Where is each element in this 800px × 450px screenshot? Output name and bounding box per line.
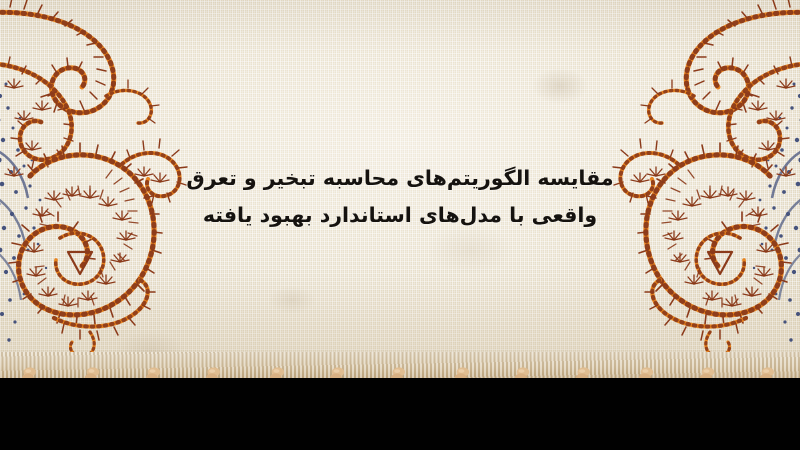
- textile-title-slide: مقایسه الگوریتم‌های محاسبه تبخیر و تعرق …: [0, 0, 800, 450]
- title-line-2: واقعی با مدل‌های استاندارد بهبود یافته: [0, 197, 800, 234]
- slide-title: مقایسه الگوریتم‌های محاسبه تبخیر و تعرق …: [0, 160, 800, 234]
- black-backdrop: [0, 378, 800, 450]
- title-line-1: مقایسه الگوریتم‌های محاسبه تبخیر و تعرق: [0, 160, 800, 197]
